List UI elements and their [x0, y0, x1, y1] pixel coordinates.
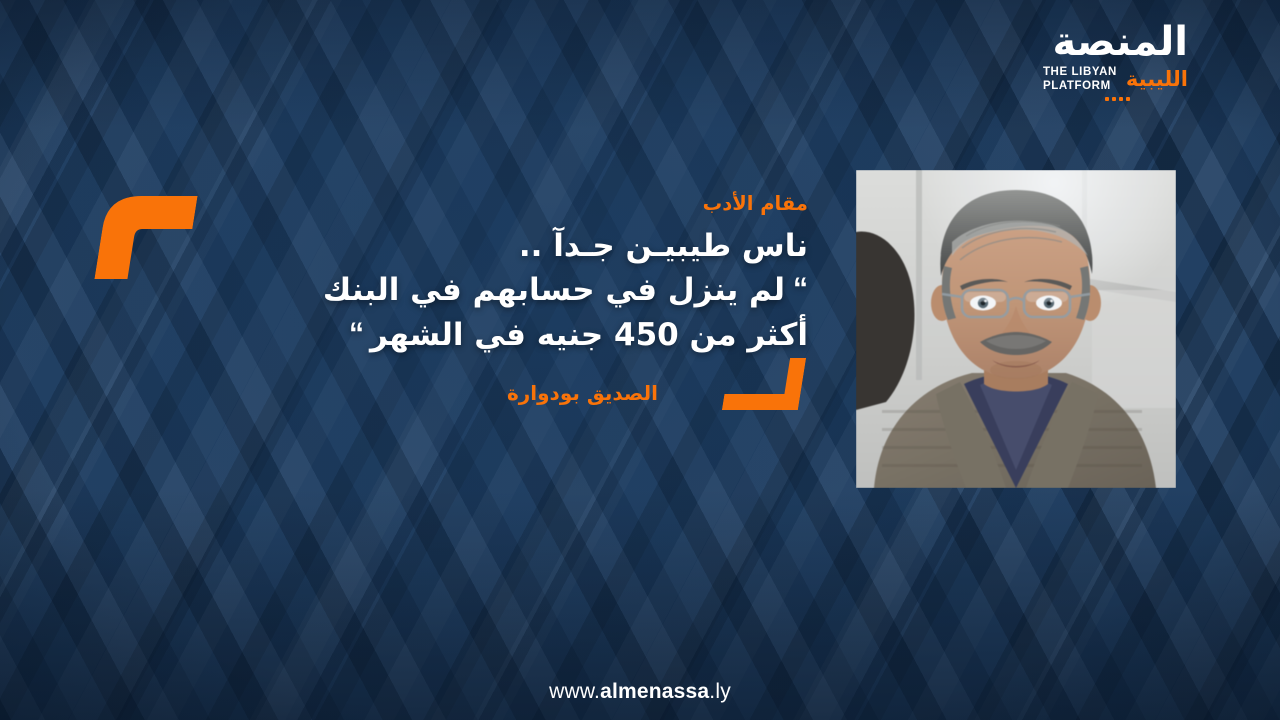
logo-english-line1: THE LIBYAN: [1043, 66, 1117, 78]
brand-logo[interactable]: المنصة الليبية THE LIBYAN PLATFORM: [1043, 22, 1188, 101]
logo-dot: [1126, 97, 1130, 101]
category-kicker: مقام الأدب: [248, 192, 808, 215]
logo-dot: [1112, 97, 1116, 101]
logo-arabic-main-text: المنصة: [1052, 22, 1188, 62]
quote-card: المنصة الليبية THE LIBYAN PLATFORM مقام …: [0, 0, 1280, 720]
quote-text: ناس طيبيـن جـدآ .. “لم ينزل في حسابهم في…: [248, 225, 808, 357]
quote-line-1-text: ناس طيبيـن جـدآ ..: [519, 228, 808, 264]
footer-url-tld: .ly: [709, 680, 731, 703]
quote-line-1: ناس طيبيـن جـدآ ..: [248, 225, 808, 268]
logo-dot: [1105, 97, 1109, 101]
quote-line-2: “لم ينزل في حسابهم في البنك: [248, 268, 808, 312]
logo-arabic-wordmark: المنصة: [1052, 22, 1188, 62]
logo-secondary-row: الليبية THE LIBYAN PLATFORM: [1043, 66, 1188, 93]
quote-open-mark-icon: “: [793, 272, 808, 305]
logo-english-line2: PLATFORM: [1043, 80, 1111, 92]
quote-close-mark-icon: “: [349, 317, 364, 350]
logo-arabic-sub-text: الليبية: [1126, 69, 1188, 90]
logo-dots-ornament: [1105, 97, 1130, 101]
author-name: الصديق بودوارة: [248, 381, 808, 405]
logo-english-text: THE LIBYAN PLATFORM: [1043, 66, 1117, 93]
author-portrait: [856, 170, 1176, 488]
quote-content: مقام الأدب ناس طيبيـن جـدآ .. “لم ينزل ف…: [248, 192, 808, 405]
logo-dot: [1119, 97, 1123, 101]
quote-line-2-text: لم ينزل في حسابهم في البنك: [323, 272, 785, 308]
footer-url-name: almenassa: [600, 680, 709, 703]
quote-line-3-text: أكثر من 450 جنيه في الشهر: [370, 316, 808, 352]
quote-line-3: أكثر من 450 جنيه في الشهر“: [248, 313, 808, 357]
orange-hook-icon: [94, 196, 197, 279]
footer-url-prefix: www.: [549, 680, 600, 703]
footer-url[interactable]: www.almenassa.ly: [0, 680, 1280, 704]
